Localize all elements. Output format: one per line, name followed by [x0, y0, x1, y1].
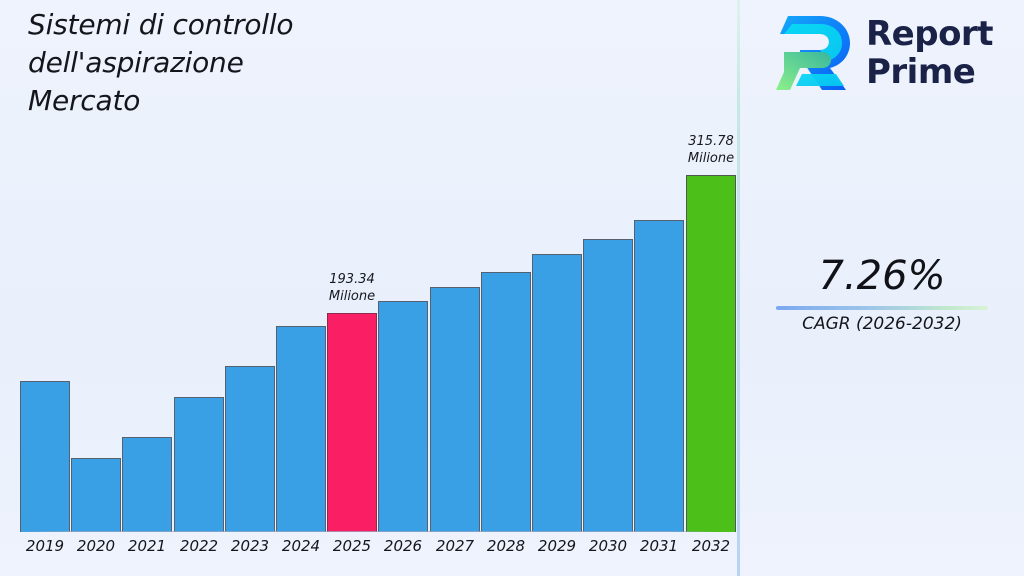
bar-2022 [174, 397, 224, 532]
x-tick-2031: 2031 [634, 537, 684, 555]
x-tick-2028: 2028 [481, 537, 531, 555]
x-tick-2032: 2032 [686, 537, 736, 555]
chart-panel: Sistemi di controllo dell'aspirazione Me… [0, 0, 738, 576]
x-tick-2023: 2023 [225, 537, 275, 555]
bar-2032 [686, 175, 736, 532]
bar-label-2025: 193.34 Milione [305, 271, 399, 305]
cagr-block: 7.26% CAGR (2026-2032) [740, 252, 1024, 334]
cagr-caption: CAGR (2026-2032) [740, 314, 1024, 334]
bar-2027 [430, 287, 480, 532]
bar-2025 [327, 313, 377, 532]
x-tick-2025: 2025 [327, 537, 377, 555]
bar-2031 [634, 220, 684, 532]
bar-2030 [583, 239, 633, 532]
cagr-value: 7.26% [740, 252, 1024, 300]
bar-2028 [481, 272, 531, 532]
bar-2024 [276, 326, 326, 532]
x-tick-2020: 2020 [71, 537, 121, 555]
report-prime-logo-mark-icon [776, 10, 854, 96]
brand-name: Report Prime [866, 15, 993, 91]
x-tick-2019: 2019 [20, 537, 70, 555]
x-axis-line [14, 531, 720, 532]
x-tick-2024: 2024 [276, 537, 326, 555]
bar-2029 [532, 254, 582, 532]
plot-area: 193.34 Milione315.78 Milione 20192020202… [0, 0, 738, 576]
x-tick-2027: 2027 [430, 537, 480, 555]
x-tick-2021: 2021 [122, 537, 172, 555]
x-tick-2030: 2030 [583, 537, 633, 555]
bar-2019 [20, 381, 70, 532]
x-tick-2022: 2022 [174, 537, 224, 555]
x-tick-2029: 2029 [532, 537, 582, 555]
bar-2023 [225, 366, 275, 532]
x-tick-2026: 2026 [378, 537, 428, 555]
brand-panel: Report Prime 7.26% CAGR (2026-2032) [740, 0, 1024, 576]
bar-2020 [71, 458, 121, 532]
bar-2021 [122, 437, 172, 532]
chart-screenshot: Sistemi di controllo dell'aspirazione Me… [0, 0, 1024, 576]
bar-2026 [378, 301, 428, 532]
cagr-underline [776, 306, 988, 310]
brand-logo[interactable]: Report Prime [776, 10, 993, 96]
